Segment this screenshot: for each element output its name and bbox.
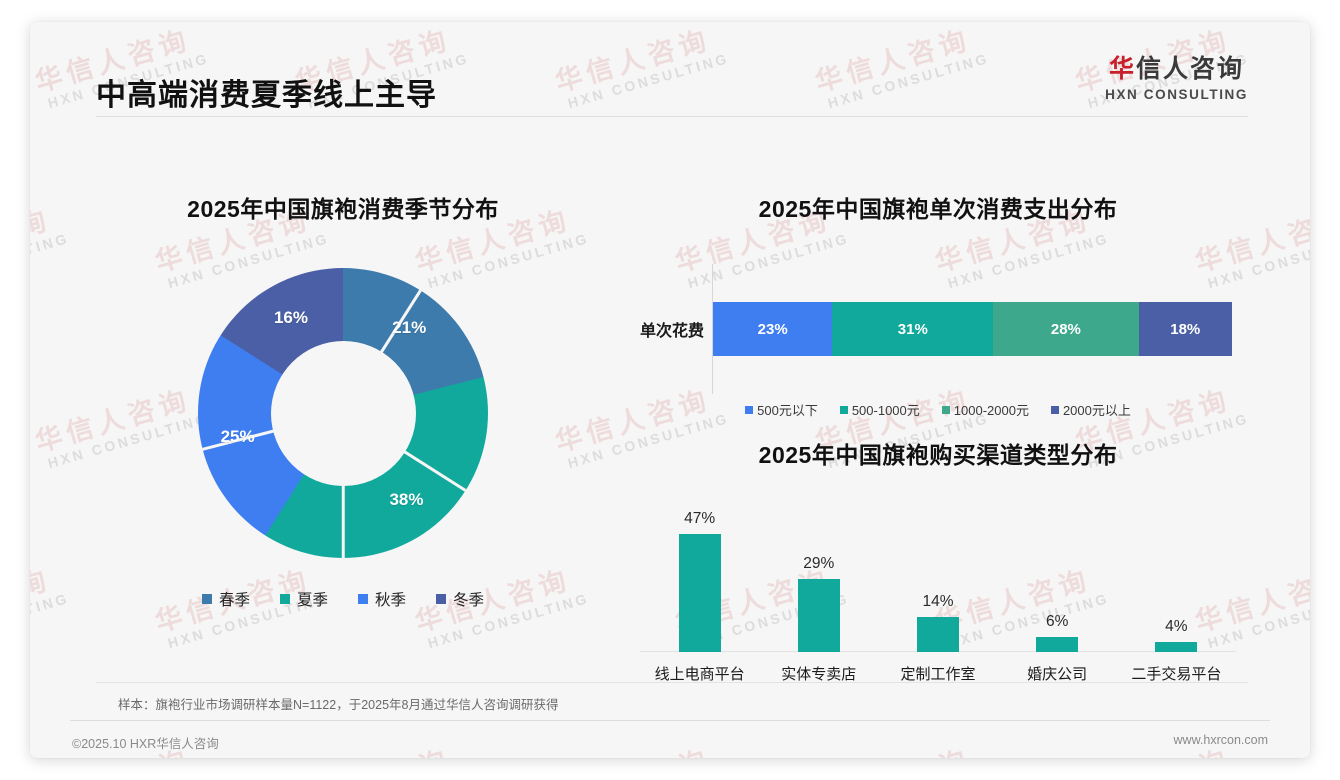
legend-item[interactable]: 冬季 — [436, 588, 484, 610]
title-divider — [96, 116, 1248, 117]
stacked-bar-segment[interactable]: 28% — [993, 302, 1138, 356]
footer-divider — [70, 720, 1270, 721]
stacked-bar-segment[interactable]: 31% — [832, 302, 993, 356]
legend-item[interactable]: 500元以下 — [745, 400, 818, 419]
bar-rect[interactable] — [798, 579, 840, 652]
spend-stacked-bar: 23%31%28%18% — [713, 302, 1232, 356]
spend-chart-title: 2025年中国旗袍单次消费支出分布 — [608, 190, 1268, 224]
legend-swatch-icon — [840, 406, 848, 414]
slide-card: 华信人咨询HXN CONSULTING华信人咨询HXN CONSULTING华信… — [30, 22, 1310, 758]
bar-category-label: 婚庆公司 — [1027, 663, 1087, 684]
donut-slice-label: 21% — [392, 318, 426, 338]
legend-swatch-icon — [358, 594, 368, 604]
season-distribution-panel: 2025年中国旗袍消费季节分布 21%38%25%16% 春季夏季秋季冬季 — [78, 162, 608, 662]
legend-label: 秋季 — [375, 588, 406, 610]
bar-column[interactable]: 29%实体专卖店 — [763, 496, 875, 686]
bar-category-label: 定制工作室 — [900, 663, 975, 684]
slide-footer: ©2025.10 HXR华信人咨询 www.hxrcon.com — [30, 728, 1310, 758]
logo-chinese: 华信人咨询 — [1105, 56, 1248, 84]
channel-bar-chart: 47%线上电商平台29%实体专卖店14%定制工作室6%婚庆公司4%二手交易平台 — [640, 496, 1236, 686]
donut-slice-label: 16% — [274, 308, 308, 328]
bar-category-label: 二手交易平台 — [1131, 663, 1221, 684]
bar-value-label: 47% — [684, 510, 715, 528]
legend-swatch-icon — [942, 406, 950, 414]
sample-footnote: 样本：旗袍行业市场调研样本量N=1122，于2025年8月通过华信人咨询调研获得 — [118, 694, 558, 713]
bar-column[interactable]: 4%二手交易平台 — [1120, 496, 1232, 686]
legend-item[interactable]: 春季 — [202, 588, 250, 610]
legend-swatch-icon — [436, 594, 446, 604]
donut-hole — [271, 341, 416, 486]
logo-rest-chars: 信人咨询 — [1136, 55, 1244, 83]
bar-value-label: 14% — [922, 593, 953, 611]
legend-label: 500元以下 — [757, 400, 818, 419]
bar-category-label: 实体专卖店 — [781, 663, 856, 684]
bar-rect[interactable] — [679, 534, 721, 652]
spend-category-label: 单次花费 — [608, 317, 704, 341]
logo-english: HXN CONSULTING — [1105, 87, 1248, 102]
legend-swatch-icon — [280, 594, 290, 604]
legend-swatch-icon — [745, 406, 753, 414]
stacked-bar-segment[interactable]: 18% — [1139, 302, 1232, 356]
slide-header: 中高端消费夏季线上主导 华信人咨询 HXN CONSULTING — [30, 22, 1310, 132]
bar-rect[interactable] — [1155, 642, 1197, 652]
donut-slice-label: 38% — [389, 490, 423, 510]
legend-label: 春季 — [219, 588, 250, 610]
bar-column[interactable]: 47%线上电商平台 — [644, 496, 756, 686]
spend-stacked-chart: 单次花费 23%31%28%18% — [608, 264, 1268, 394]
legend-swatch-icon — [202, 594, 212, 604]
donut-slice-label: 25% — [221, 427, 255, 447]
legend-item[interactable]: 秋季 — [358, 588, 406, 610]
watermark-text: 华信人咨询HXN CONSULTING — [30, 194, 71, 293]
channel-distribution-panel: 2025年中国旗袍购买渠道类型分布 47%线上电商平台29%实体专卖店14%定制… — [608, 422, 1268, 712]
legend-label: 冬季 — [453, 588, 484, 610]
spend-legend: 500元以下500-1000元1000-2000元2000元以上 — [608, 400, 1268, 419]
spend-distribution-panel: 2025年中国旗袍单次消费支出分布 单次花费 23%31%28%18% 500元… — [608, 162, 1268, 412]
season-chart-title: 2025年中国旗袍消费季节分布 — [78, 190, 608, 224]
bar-category-label: 线上电商平台 — [655, 663, 745, 684]
legend-label: 2000元以上 — [1063, 400, 1131, 419]
channel-chart-title: 2025年中国旗袍购买渠道类型分布 — [608, 436, 1268, 470]
bar-column[interactable]: 14%定制工作室 — [882, 496, 994, 686]
bar-rect[interactable] — [1036, 637, 1078, 652]
legend-label: 1000-2000元 — [954, 400, 1029, 419]
legend-label: 夏季 — [297, 588, 328, 610]
season-donut-chart: 21%38%25%16% — [198, 268, 488, 558]
bar-value-label: 6% — [1046, 613, 1068, 631]
legend-item[interactable]: 500-1000元 — [840, 400, 920, 419]
watermark-text: 华信人咨询HXN CONSULTING — [30, 554, 71, 653]
legend-item[interactable]: 2000元以上 — [1051, 400, 1131, 419]
website-url: www.hxrcon.com — [1174, 733, 1268, 747]
legend-item[interactable]: 1000-2000元 — [942, 400, 1029, 419]
season-legend: 春季夏季秋季冬季 — [78, 588, 608, 610]
legend-item[interactable]: 夏季 — [280, 588, 328, 610]
bar-column[interactable]: 6%婚庆公司 — [1001, 496, 1113, 686]
logo-accent-char: 华 — [1109, 55, 1136, 83]
stacked-bar-segment[interactable]: 23% — [713, 302, 832, 356]
legend-swatch-icon — [1051, 406, 1059, 414]
legend-label: 500-1000元 — [852, 400, 920, 419]
page-title: 中高端消费夏季线上主导 — [96, 70, 437, 114]
bar-value-label: 29% — [803, 555, 834, 573]
company-logo: 华信人咨询 HXN CONSULTING — [1105, 56, 1248, 102]
bar-rect[interactable] — [917, 617, 959, 652]
copyright-text: ©2025.10 HXR华信人咨询 — [72, 733, 219, 752]
bar-value-label: 4% — [1165, 618, 1187, 636]
footnote-divider — [96, 682, 1248, 683]
